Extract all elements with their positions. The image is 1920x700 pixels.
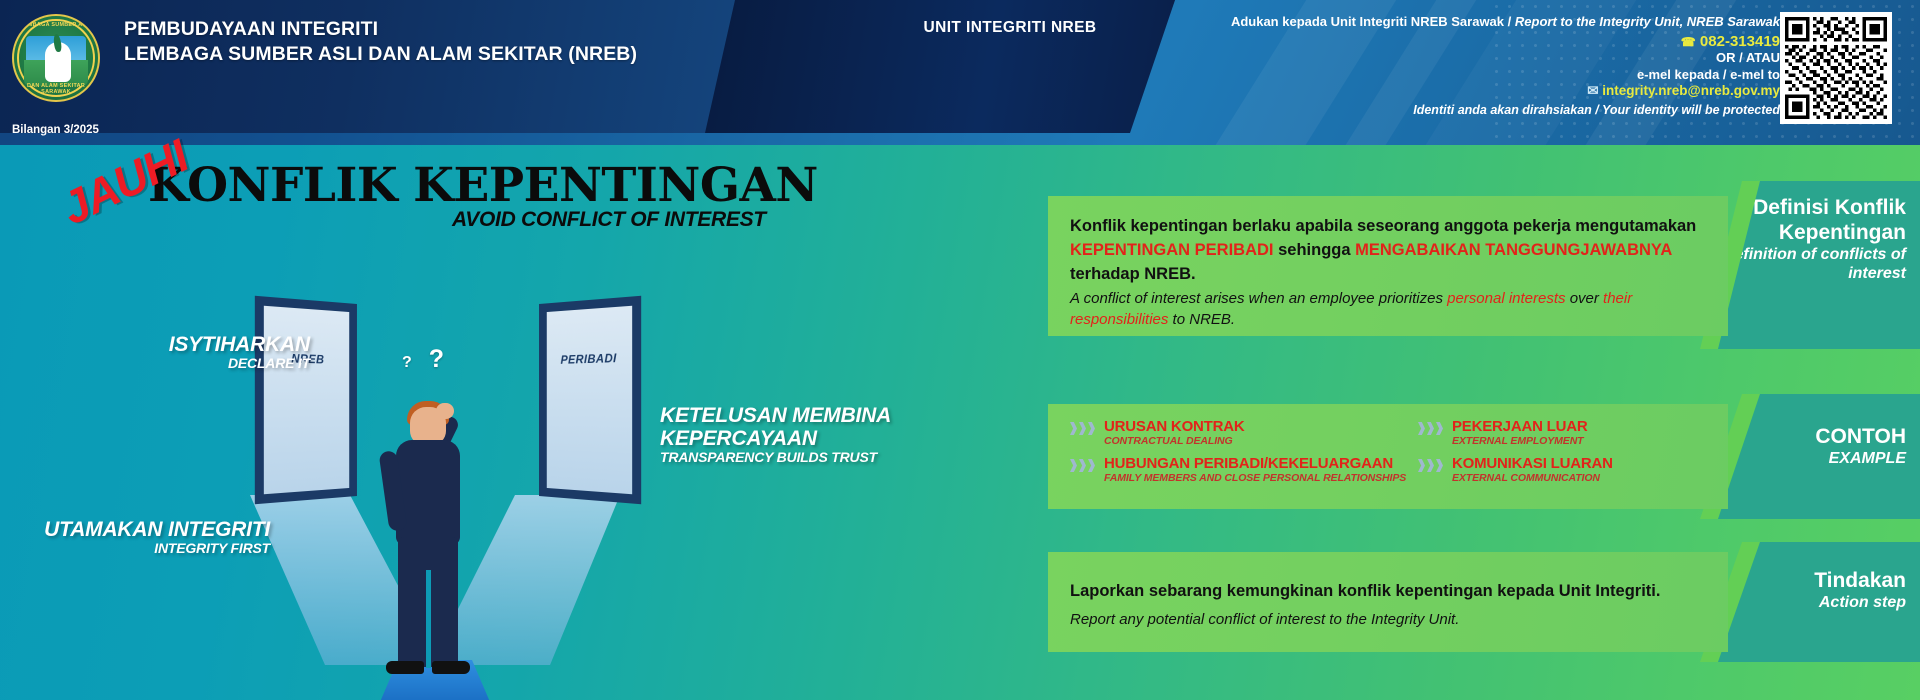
- callout-integrity-ms: UTAMAKAN INTEGRITI: [35, 518, 270, 541]
- callout-integrity-first: UTAMAKAN INTEGRITI INTEGRITY FIRST: [35, 518, 270, 556]
- action-text-en: Report any potential conflict of interes…: [1070, 610, 1690, 630]
- nreb-logo: LEMBAGA SUMBER ASLI DAN ALAM SEKITAR SAR…: [12, 14, 100, 102]
- definition-tab-en: Definition of conflicts of interest: [1718, 245, 1906, 283]
- contact-report-en: Report to the Integrity Unit, NREB Saraw…: [1515, 14, 1780, 29]
- contact-phone[interactable]: 082-313419: [1700, 33, 1780, 50]
- example-item: KOMUNIKASI LUARAN EXTERNAL COMMUNICATION: [1418, 455, 1718, 485]
- envelope-icon: ✉: [1587, 83, 1598, 98]
- callout-transparency-ms: KETELUSAN MEMBINA KEPERCAYAAN: [660, 404, 990, 450]
- contact-email-row[interactable]: ✉ integrity.nreb@nreb.gov.my: [1100, 83, 1780, 100]
- header-organisation: PEMBUDAYAAN INTEGRITI LEMBAGA SUMBER ASL…: [124, 17, 637, 67]
- example-item-ms: HUBUNGAN PERIBADI/KEKELUARGAAN: [1104, 455, 1420, 472]
- example-item-ms: KOMUNIKASI LUARAN: [1452, 455, 1718, 472]
- definition-en-red1: personal interests: [1447, 290, 1565, 307]
- definition-ms-p1: Konflik kepentingan berlaku apabila sese…: [1070, 217, 1696, 235]
- header-contact-block: Adukan kepada Unit Integriti NREB Sarawa…: [1100, 14, 1780, 118]
- header-org-line1: PEMBUDAYAAN INTEGRITI: [124, 17, 637, 42]
- action-panel: Laporkan sebarang kemungkinan konflik ke…: [1048, 552, 1728, 652]
- contact-email[interactable]: integrity.nreb@nreb.gov.my: [1602, 83, 1780, 98]
- example-item-en: EXTERNAL EMPLOYMENT: [1452, 435, 1718, 448]
- qr-code[interactable]: [1780, 12, 1892, 124]
- phone-icon: ☎: [1681, 35, 1696, 49]
- example-tab-ms: CONTOH: [1815, 424, 1906, 449]
- definition-ms-p2: sehingga: [1274, 241, 1356, 259]
- header-issue-number: Bilangan 3/2025: [12, 124, 99, 136]
- definition-en-p3: to NREB.: [1168, 311, 1235, 328]
- callout-transparency-en: TRANSPARENCY BUILDS TRUST: [660, 450, 990, 465]
- contact-phone-row[interactable]: ☎ 082-313419: [1100, 34, 1780, 51]
- arrows-icon: [1418, 422, 1446, 435]
- contact-or: OR / ATAU: [1100, 50, 1780, 67]
- example-column-right: PEKERJAAN LUAR EXTERNAL EMPLOYMENT KOMUN…: [1418, 418, 1718, 492]
- definition-panel: Konflik kepentingan berlaku apabila sese…: [1048, 196, 1728, 336]
- door-nreb: NREB: [255, 296, 357, 505]
- callout-declare-ms: ISYTIHARKAN: [110, 333, 310, 356]
- logo-bottom-text: DAN ALAM SEKITAR SARAWAK: [14, 83, 98, 95]
- example-tab-en: EXAMPLE: [1815, 449, 1906, 468]
- example-column-left: URUSAN KONTRAK CONTRACTUAL DEALING HUBUN…: [1070, 418, 1420, 492]
- action-text-ms: Laporkan sebarang kemungkinan konflik ke…: [1070, 580, 1690, 602]
- example-item-ms: URUSAN KONTRAK: [1104, 418, 1420, 435]
- example-item: HUBUNGAN PERIBADI/KEKELUARGAAN FAMILY ME…: [1070, 455, 1420, 485]
- example-item: PEKERJAAN LUAR EXTERNAL EMPLOYMENT: [1418, 418, 1718, 448]
- definition-en-p1: A conflict of interest arises when an em…: [1070, 290, 1447, 307]
- action-tab-ms: Tindakan: [1814, 568, 1906, 593]
- example-panel: URUSAN KONTRAK CONTRACTUAL DEALING HUBUN…: [1048, 404, 1728, 509]
- arrows-icon: [1070, 422, 1098, 435]
- example-item: URUSAN KONTRAK CONTRACTUAL DEALING: [1070, 418, 1420, 448]
- header-org-line2: LEMBAGA SUMBER ASLI DAN ALAM SEKITAR (NR…: [124, 42, 637, 67]
- door-peribadi: PERIBADI: [539, 296, 641, 505]
- callout-transparency: KETELUSAN MEMBINA KEPERCAYAAN TRANSPAREN…: [660, 404, 990, 465]
- contact-privacy-note: Identiti anda akan dirahsiakan / Your id…: [1100, 102, 1780, 119]
- person-figure: [372, 385, 492, 685]
- definition-ms-p3: terhadap NREB.: [1070, 265, 1196, 283]
- example-item-en: EXTERNAL COMMUNICATION: [1452, 472, 1718, 485]
- contact-report-ms: Adukan kepada Unit Integriti NREB Sarawa…: [1231, 14, 1504, 29]
- callout-declare-en: DECLARE IT: [110, 356, 310, 371]
- contact-email-label: e-mel kepada / e-mel to: [1100, 67, 1780, 84]
- arrows-icon: [1070, 459, 1098, 472]
- example-item-en: FAMILY MEMBERS AND CLOSE PERSONAL RELATI…: [1104, 472, 1420, 485]
- contact-separator: /: [1508, 14, 1512, 29]
- logo-top-text: LEMBAGA SUMBER ASLI: [14, 22, 98, 28]
- example-item-en: CONTRACTUAL DEALING: [1104, 435, 1420, 448]
- callout-integrity-en: INTEGRITY FIRST: [35, 541, 270, 556]
- door-peribadi-label: PERIBADI: [539, 350, 641, 367]
- definition-text-ms: Konflik kepentingan berlaku apabila sese…: [1070, 214, 1710, 286]
- definition-ms-red2: MENGABAIKAN TANGGUNGJAWABNYA: [1355, 241, 1672, 259]
- arrows-icon: [1418, 459, 1446, 472]
- definition-en-p2: over: [1566, 290, 1604, 307]
- question-marks: ? ?: [402, 345, 449, 374]
- definition-text-en: A conflict of interest arises when an em…: [1070, 288, 1710, 330]
- contact-report-line: Adukan kepada Unit Integriti NREB Sarawa…: [1100, 14, 1780, 31]
- definition-ms-red1: KEPENTINGAN PERIBADI: [1070, 241, 1274, 259]
- example-item-ms: PEKERJAAN LUAR: [1452, 418, 1718, 435]
- page-title: KONFLIK KEPENTINGAN: [148, 158, 818, 213]
- action-tab-en: Action step: [1814, 593, 1906, 612]
- callout-declare: ISYTIHARKAN DECLARE IT: [110, 333, 310, 371]
- page-header: LEMBAGA SUMBER ASLI DAN ALAM SEKITAR SAR…: [0, 0, 1920, 145]
